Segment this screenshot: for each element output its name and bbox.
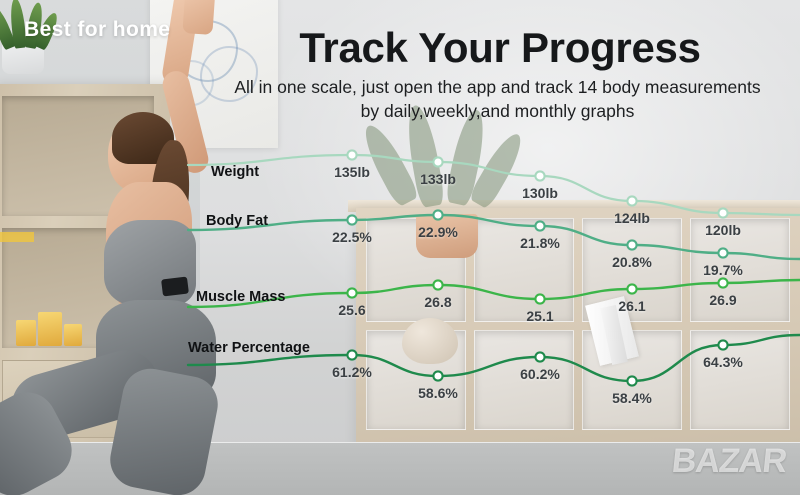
- data-point-label: 58.6%: [418, 385, 458, 401]
- data-point-label: 25.6: [338, 302, 365, 318]
- data-point[interactable]: [627, 284, 636, 293]
- data-point-label: 60.2%: [520, 366, 560, 382]
- series-legend-label-weight: Weight: [211, 164, 259, 180]
- data-point-label: 120lb: [705, 222, 741, 238]
- data-point[interactable]: [535, 171, 544, 180]
- data-point[interactable]: [718, 278, 727, 287]
- data-point-label: 20.8%: [612, 254, 652, 270]
- series-legend-label-muscle-mass: Muscle Mass: [196, 289, 285, 305]
- bazar-watermark: BAZAR: [670, 442, 788, 481]
- data-point[interactable]: [535, 221, 544, 230]
- data-point[interactable]: [433, 157, 442, 166]
- chart-svg-canvas: [0, 0, 800, 495]
- data-point[interactable]: [347, 350, 356, 359]
- data-point[interactable]: [718, 248, 727, 257]
- data-point[interactable]: [627, 240, 636, 249]
- data-point-label: 25.1: [526, 308, 553, 324]
- data-point[interactable]: [535, 352, 544, 361]
- data-point[interactable]: [433, 280, 442, 289]
- subtitle-line-1: All in one scale, just open the app and …: [190, 76, 800, 100]
- series-legend-label-body-fat: Body Fat: [206, 213, 268, 229]
- data-point-label: 58.4%: [612, 390, 652, 406]
- series-line-weight: [188, 155, 800, 215]
- data-point-label: 26.1: [618, 298, 645, 314]
- data-point-label: 130lb: [522, 185, 558, 201]
- data-point-label: 26.8: [424, 294, 451, 310]
- data-point-label: 133lb: [420, 171, 456, 187]
- page-subtitle: All in one scale, just open the app and …: [190, 76, 800, 123]
- data-point-label: 124lb: [614, 210, 650, 226]
- data-point[interactable]: [347, 288, 356, 297]
- progress-line-chart: 135lb133lb130lb124lb120lbWeight22.5%22.9…: [0, 0, 800, 495]
- data-point-label: 19.7%: [703, 262, 743, 278]
- data-point[interactable]: [627, 196, 636, 205]
- data-point[interactable]: [718, 340, 727, 349]
- data-point[interactable]: [433, 210, 442, 219]
- data-point[interactable]: [347, 150, 356, 159]
- data-point[interactable]: [347, 215, 356, 224]
- data-point[interactable]: [627, 376, 636, 385]
- series-legend-label-water-percentage: Water Percentage: [188, 340, 310, 356]
- data-point-label: 22.9%: [418, 224, 458, 240]
- best-for-home-badge: Best for home: [24, 18, 170, 42]
- data-point-label: 26.9: [709, 292, 736, 308]
- data-point[interactable]: [718, 208, 727, 217]
- data-point-label: 64.3%: [703, 354, 743, 370]
- page-title: Track Your Progress: [200, 24, 800, 72]
- promo-banner: Best for home Track Your Progress All in…: [0, 0, 800, 495]
- data-point[interactable]: [433, 371, 442, 380]
- data-point-label: 61.2%: [332, 364, 372, 380]
- data-point[interactable]: [535, 294, 544, 303]
- subtitle-line-2: by daily,weekly,and monthly graphs: [190, 100, 800, 124]
- data-point-label: 21.8%: [520, 235, 560, 251]
- data-point-label: 22.5%: [332, 229, 372, 245]
- data-point-label: 135lb: [334, 164, 370, 180]
